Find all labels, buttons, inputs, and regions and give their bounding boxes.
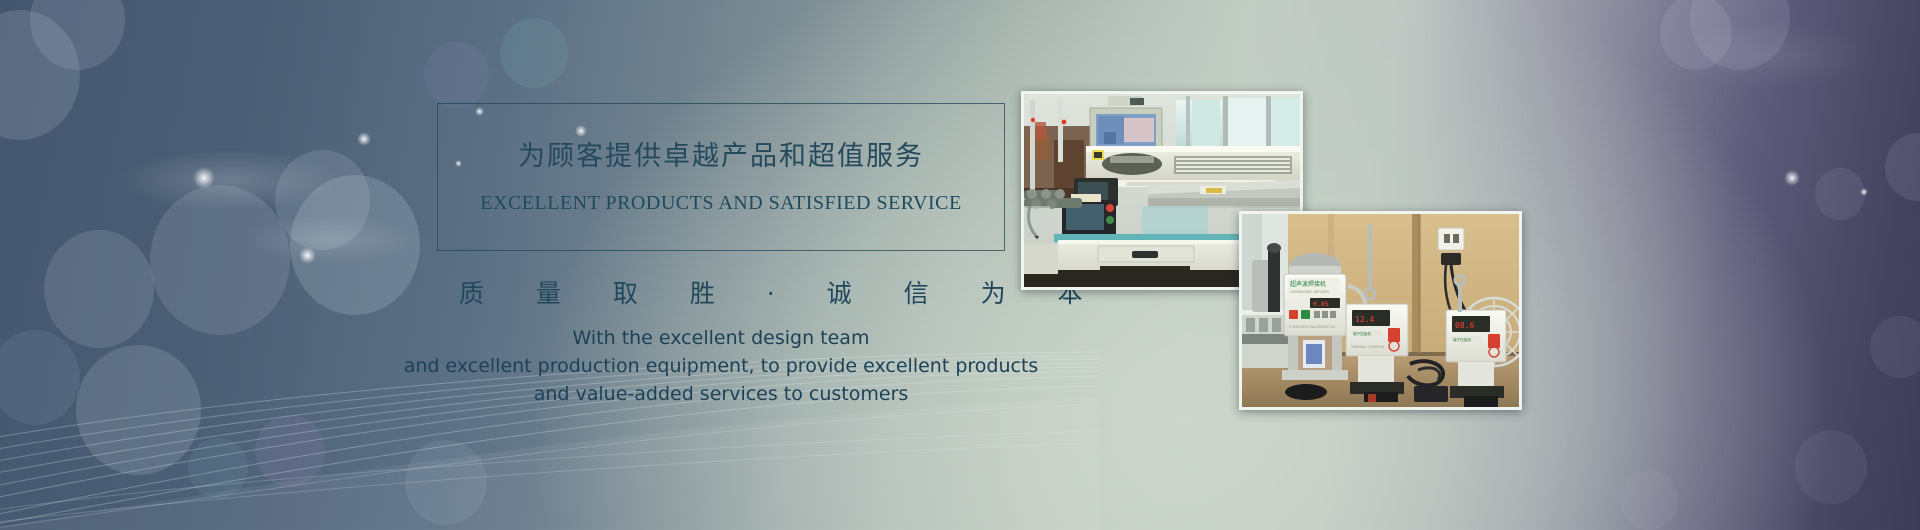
paragraph-line-2: and excellent production equipment, to p… [340,352,1102,380]
lens-flare-streak [1670,20,1870,90]
headline-english: EXCELLENT PRODUCTS AND SATISFIED SERVICE [437,192,1005,215]
testing-equipment-photo: 超声波焊接机 ULTRASONIC WELDER 0.85 SHENZHEN M… [1239,211,1522,410]
svg-text:ULTRASONIC WELDER: ULTRASONIC WELDER [1290,290,1330,294]
bokeh-circle [1870,316,1920,378]
paragraph-line-1: With the excellent design team [340,324,1102,352]
sparkle-icon [1860,188,1868,196]
paragraph-line-3: and value-added services to customers [340,380,1102,408]
headline-chinese: 为顾客提供卓越产品和超值服务 [437,134,1005,173]
svg-text:0.85: 0.85 [1313,300,1329,308]
svg-text:SHENZHEN MACHINERY CO.: SHENZHEN MACHINERY CO. [1289,325,1336,329]
bokeh-circle [1620,470,1678,530]
bokeh-circle [1690,0,1790,70]
svg-text:端子压接机: 端子压接机 [1353,331,1371,336]
slogan-chinese: 质 量 取 胜 · 诚 信 为 本 [437,274,1005,310]
bokeh-circle [1815,168,1865,220]
svg-text:08.6: 08.6 [1455,321,1474,330]
svg-text:12.4: 12.4 [1355,315,1374,324]
svg-text:超声波焊接机: 超声波焊接机 [1290,280,1326,288]
sparkle-icon [1784,170,1800,186]
headline-frame [437,103,1005,251]
testing-equipment-art: 超声波焊接机 ULTRASONIC WELDER 0.85 SHENZHEN M… [1242,214,1519,407]
svg-text:TERMINAL CRIMPING: TERMINAL CRIMPING [1350,345,1385,349]
hero-banner: 为顾客提供卓越产品和超值服务 EXCELLENT PRODUCTS AND SA… [0,0,1920,530]
bokeh-circle [1795,430,1867,504]
svg-text:端子压接机: 端子压接机 [1453,337,1471,342]
bokeh-circle [1885,133,1920,201]
bokeh-circle [1660,0,1732,70]
banner-paragraph: With the excellent design team and excel… [340,324,1102,408]
